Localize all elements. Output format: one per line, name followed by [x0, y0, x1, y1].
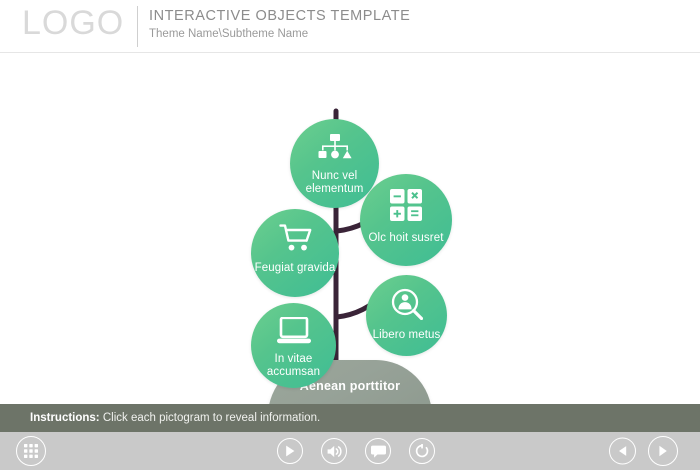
- pictogram-label-5: In vitae accumsan: [251, 353, 336, 379]
- replay-icon[interactable]: [409, 438, 435, 464]
- pictogram-label-2: Olc hoit susret: [369, 232, 444, 245]
- page-title: INTERACTIVE OBJECTS TEMPLATE: [149, 8, 410, 24]
- next-icon[interactable]: [648, 436, 678, 466]
- header-divider: [137, 6, 138, 47]
- captions-icon[interactable]: [365, 438, 391, 464]
- volume-icon[interactable]: [321, 438, 347, 464]
- pictogram-node-5[interactable]: In vitae accumsan: [251, 303, 336, 388]
- player-bar: [0, 432, 700, 470]
- user-search-icon: [391, 288, 423, 325]
- logo: LOGO: [22, 4, 124, 43]
- pictogram-label-3: Feugiat gravida: [255, 262, 336, 275]
- pictogram-node-2[interactable]: Olc hoit susret: [360, 174, 452, 266]
- instructions-label: Instructions:: [30, 412, 100, 424]
- diagram-canvas: Aenean porttitor: [0, 53, 700, 404]
- breadcrumb: Theme Name\Subtheme Name: [149, 28, 308, 40]
- menu-grid-icon[interactable]: [16, 436, 46, 466]
- instructions-text: Instructions: Click each pictogram to re…: [30, 412, 320, 424]
- laptop-icon: [277, 317, 311, 349]
- slide-stage: LOGO INTERACTIVE OBJECTS TEMPLATE Theme …: [0, 0, 700, 470]
- tree-stem-graphic: [0, 53, 700, 404]
- pictogram-label-1: Nunc vel elementum: [290, 170, 379, 196]
- instructions-bar: Instructions: Click each pictogram to re…: [0, 404, 700, 432]
- pictogram-node-4[interactable]: Libero metus: [366, 275, 447, 356]
- instructions-body: Click each pictogram to reveal informati…: [103, 412, 320, 424]
- previous-icon[interactable]: [609, 438, 636, 465]
- sitemap-icon: [318, 134, 352, 165]
- pictogram-node-1[interactable]: Nunc vel elementum: [290, 119, 379, 208]
- page-header: LOGO INTERACTIVE OBJECTS TEMPLATE Theme …: [0, 0, 700, 53]
- shopping-cart-icon: [279, 224, 312, 257]
- play-icon[interactable]: [277, 438, 303, 464]
- pictogram-node-3[interactable]: Feugiat gravida: [251, 209, 339, 297]
- pictogram-label-4: Libero metus: [373, 329, 441, 342]
- calculator-icon: [390, 189, 422, 226]
